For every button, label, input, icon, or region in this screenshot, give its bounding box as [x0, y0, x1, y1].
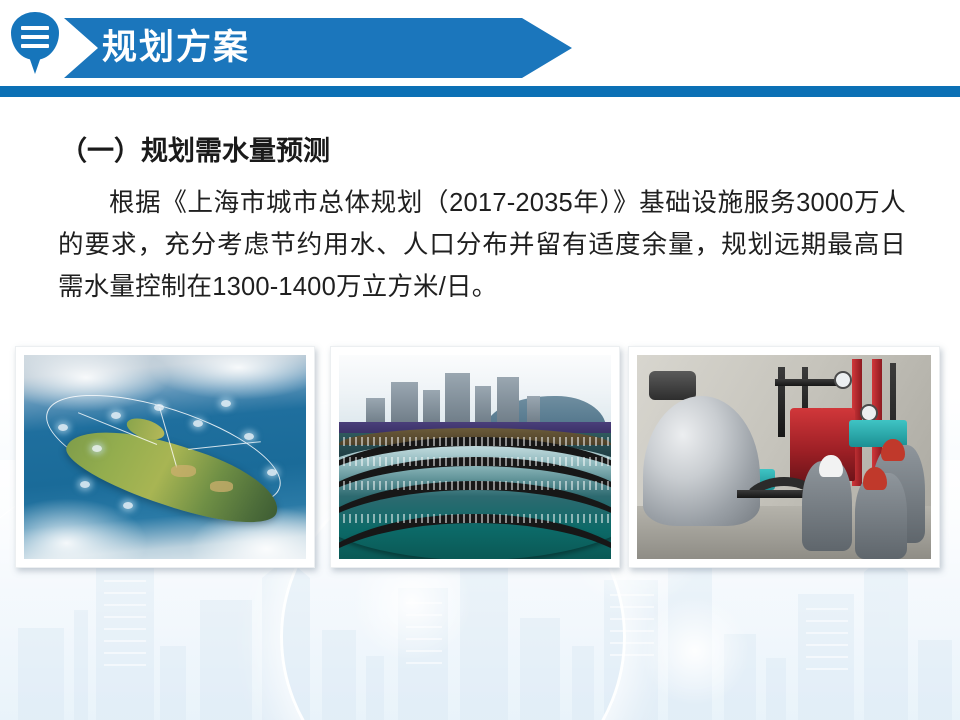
water-treatment-basins: [339, 355, 611, 559]
island-aerial-rendering: [24, 355, 306, 559]
section-heading: （一）规划需水量预测: [60, 129, 330, 168]
bokeh-light: [640, 596, 750, 706]
photo-frame-basins[interactable]: [330, 346, 620, 568]
photo-frame-island[interactable]: [15, 346, 315, 568]
header-rule: [0, 86, 960, 97]
body-paragraph: 根据《上海市城市总体规划（2017-2035年）》基础设施服务3000万人的要求…: [58, 182, 906, 308]
photo-row: [0, 346, 960, 576]
hamburger-pin-icon: [11, 12, 59, 70]
hamburger-lines-icon: [21, 26, 49, 53]
banner-title: 规划方案: [102, 18, 250, 78]
pump-room-workers: [637, 355, 931, 559]
slide-canvas: 规划方案 （一）规划需水量预测 根据《上海市城市总体规划（2017-2035年）…: [0, 0, 960, 720]
slide-header: 规划方案: [0, 0, 960, 100]
photo-frame-pumproom[interactable]: [628, 346, 940, 568]
